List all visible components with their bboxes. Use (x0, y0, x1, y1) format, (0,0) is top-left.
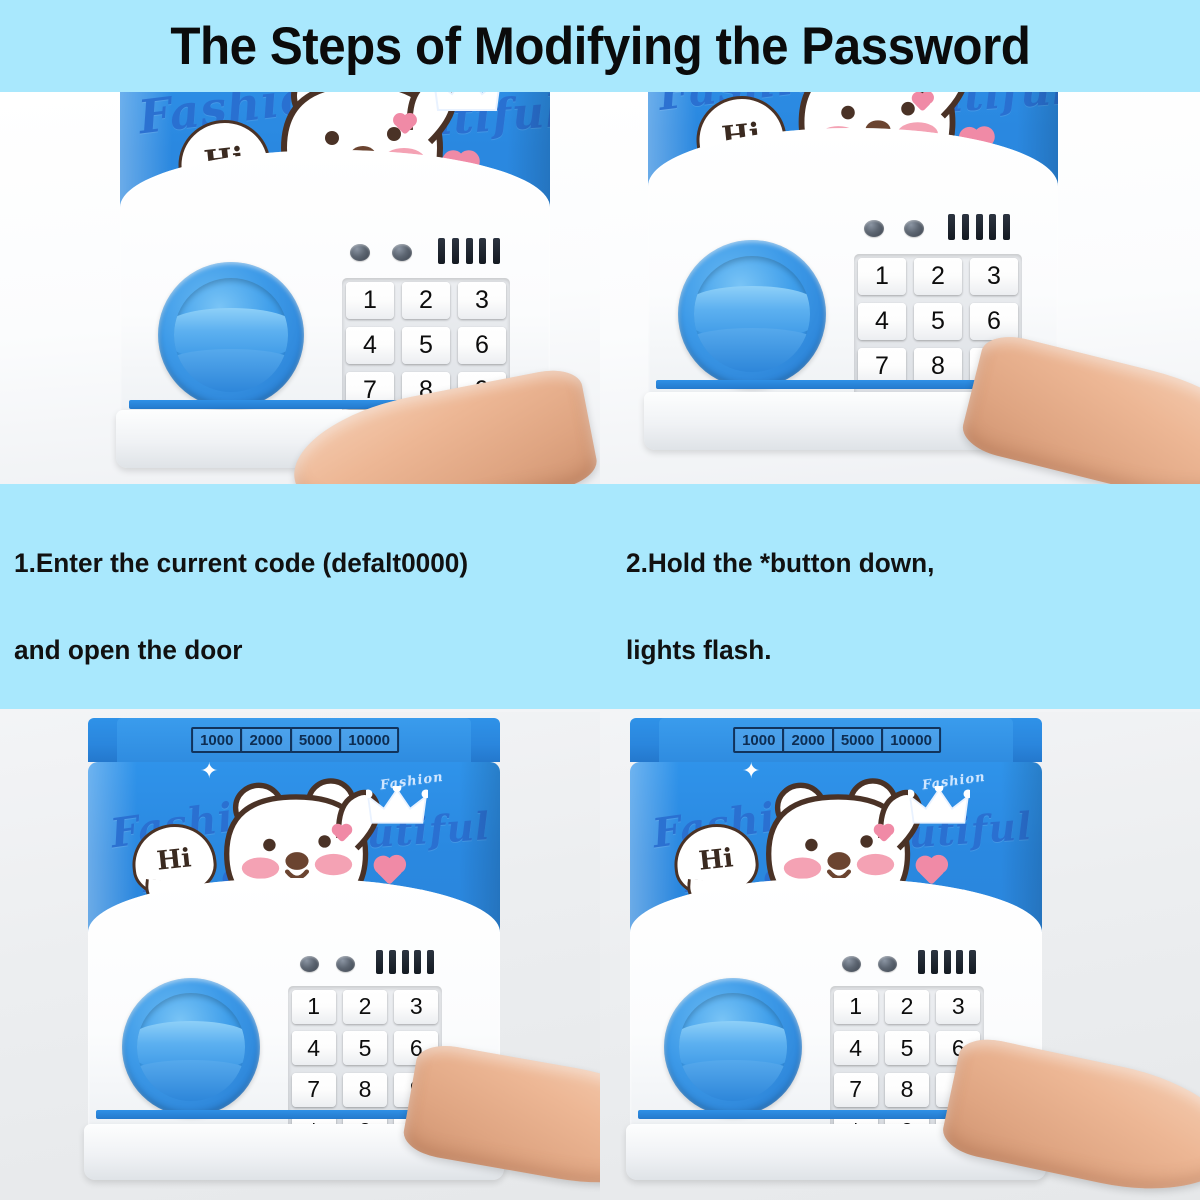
keypad-key-3[interactable]: 3 (936, 990, 980, 1024)
dial-band-lower (174, 349, 288, 392)
keypad-key-7[interactable]: 7 (292, 1073, 336, 1107)
accent-stripe (96, 1110, 492, 1119)
led-indicator-1 (842, 956, 861, 972)
keypad-key-8[interactable]: 8 (885, 1073, 929, 1107)
dial-knob-inner (679, 993, 787, 1101)
keypad-key-4[interactable]: 4 (834, 1031, 878, 1065)
vent-slot (1003, 214, 1010, 240)
device-front-face: 1 2 3 4 5 6 7 8 9 * 0 # (88, 878, 500, 1136)
denomination-2000: 2000 (782, 727, 833, 753)
accent-stripe (129, 400, 542, 409)
keypad-key-1[interactable]: 1 (292, 990, 336, 1024)
denomination-1000: 1000 (191, 727, 242, 753)
accent-stripe (638, 1110, 1034, 1119)
vent-slot (969, 950, 976, 974)
step-2-text: 2.Hold the *button down, lights flash. (626, 498, 1183, 673)
dial-knob[interactable] (678, 240, 826, 388)
keypad-key-7[interactable]: 7 (834, 1073, 878, 1107)
keypad-key-3[interactable]: 3 (394, 990, 438, 1024)
keypad-key-6[interactable]: 6 (970, 303, 1018, 340)
device-front-face: 1 2 3 4 5 6 7 8 9 * 0 # (120, 150, 550, 422)
keypad-key-1[interactable]: 1 (858, 258, 906, 295)
money-bank-device-1: Fashion beautiful The girl Fashion (120, 92, 550, 482)
denomination-5000: 5000 (290, 727, 341, 753)
dial-knob[interactable] (664, 978, 802, 1116)
keypad-key-2[interactable]: 2 (402, 282, 450, 319)
denomination-10000: 10000 (339, 727, 399, 753)
speaker-vent (948, 214, 1010, 240)
keypad-key-6[interactable]: 6 (936, 1031, 980, 1065)
vent-slot (479, 238, 486, 264)
device-front-face: 1 2 3 4 5 6 7 8 9 * 0 # (648, 128, 1058, 404)
device-base (84, 1124, 504, 1180)
keypad-key-9[interactable]: 9 (394, 1073, 438, 1107)
keypad-key-2[interactable]: 2 (885, 990, 929, 1024)
vent-slot (466, 238, 473, 264)
vent-slot (918, 950, 925, 974)
keypad-key-9[interactable]: 9 (936, 1073, 980, 1107)
keypad-key-4[interactable]: 4 (346, 327, 394, 364)
text-column-right: 2.Hold the *button down, lights flash. 4… (600, 484, 1200, 712)
device-base (116, 410, 555, 468)
led-indicator-1 (864, 220, 884, 237)
vent-slot (414, 950, 421, 974)
dial-band-lower (137, 1060, 245, 1101)
vent-slot (944, 950, 951, 974)
sparkle-icon: ✦ (200, 762, 218, 782)
keypad-key-8[interactable]: 8 (343, 1073, 387, 1107)
bottom-photo-row: 1000 2000 5000 10000 Fashion beautiful T… (0, 712, 1200, 1200)
step-1-line-2: and open the door (14, 635, 242, 665)
vent-slot (389, 950, 396, 974)
speaker-vent (438, 238, 500, 264)
vent-slot (976, 214, 983, 240)
text-column-left: 1.Enter the current code (defalt0000) an… (0, 484, 600, 712)
step-2-line-1: 2.Hold the *button down, (626, 548, 934, 578)
crown-icon (366, 786, 428, 828)
vent-slot (376, 950, 383, 974)
money-bank-device-2: Fashion beautiful The girl (648, 92, 1058, 476)
step-1-text: 1.Enter the current code (defalt0000) an… (14, 498, 582, 673)
dial-knob[interactable] (122, 978, 260, 1116)
led-indicator-2 (336, 956, 355, 972)
keypad-key-4[interactable]: 4 (292, 1031, 336, 1065)
led-indicator-1 (300, 956, 319, 972)
instruction-text-band: 1.Enter the current code (defalt0000) an… (0, 484, 1200, 712)
keypad-key-5[interactable]: 5 (343, 1031, 387, 1065)
panel-4-photo: 1000 2000 5000 10000 Fashion beautiful T… (600, 712, 1200, 1200)
title-band: The Steps of Modifying the Password (0, 0, 1200, 92)
vent-slot (962, 214, 969, 240)
keypad-key-6[interactable]: 6 (458, 327, 506, 364)
panel-1-photo: Fashion beautiful The girl Fashion (0, 92, 600, 484)
dial-knob[interactable] (158, 262, 304, 408)
device-lid: 1000 2000 5000 10000 (630, 718, 1042, 762)
page-title: The Steps of Modifying the Password (170, 20, 1030, 73)
sparkle-icon: ✦ (742, 762, 760, 782)
vent-slot (427, 950, 434, 974)
keypad-key-2[interactable]: 2 (343, 990, 387, 1024)
led-indicator-2 (392, 244, 412, 261)
device-front-face: 1 2 3 4 5 6 7 8 9 * 0 # (630, 878, 1042, 1136)
vent-slot (956, 950, 963, 974)
led-indicator-2 (878, 956, 897, 972)
vent-slot (438, 238, 445, 264)
crown-icon (432, 92, 502, 116)
dial-band-lower (679, 1060, 787, 1101)
accent-stripe (656, 380, 1050, 389)
device-base (626, 1124, 1046, 1180)
step-2-line-2: lights flash. (626, 635, 772, 665)
speaker-vent (918, 950, 976, 974)
money-bank-device-4: 1000 2000 5000 10000 Fashion beautiful T… (630, 718, 1042, 1188)
denomination-1000: 1000 (733, 727, 784, 753)
dial-knob-inner (694, 256, 809, 371)
denomination-5000: 5000 (832, 727, 883, 753)
vent-slot (989, 214, 996, 240)
denomination-strip: 1000 2000 5000 10000 (733, 727, 939, 753)
infographic-page: The Steps of Modifying the Password Fash… (0, 0, 1200, 1200)
keypad-key-4[interactable]: 4 (858, 303, 906, 340)
keypad-key-3[interactable]: 3 (970, 258, 1018, 295)
led-indicator-1 (350, 244, 370, 261)
dial-knob-inner (174, 278, 288, 392)
keypad-key-2[interactable]: 2 (914, 258, 962, 295)
dial-knob-inner (137, 993, 245, 1101)
dial-band-lower (694, 328, 809, 372)
step-1-line-1: 1.Enter the current code (defalt0000) (14, 548, 468, 578)
money-bank-device-3: 1000 2000 5000 10000 Fashion beautiful T… (88, 718, 500, 1188)
panel-3-photo: 1000 2000 5000 10000 Fashion beautiful T… (0, 712, 600, 1200)
device-base (644, 392, 1062, 450)
vent-slot (948, 214, 955, 240)
vent-slot (493, 238, 500, 264)
vent-slot (402, 950, 409, 974)
keypad-key-1[interactable]: 1 (834, 990, 878, 1024)
denomination-10000: 10000 (881, 727, 941, 753)
keypad-key-5[interactable]: 5 (402, 327, 450, 364)
keypad-key-5[interactable]: 5 (885, 1031, 929, 1065)
top-photo-row: Fashion beautiful The girl Fashion (0, 92, 1200, 484)
spacer (626, 673, 1200, 681)
crown-icon (908, 786, 970, 828)
vent-slot (452, 238, 459, 264)
keypad-key-1[interactable]: 1 (346, 282, 394, 319)
heart-icon-large (376, 858, 403, 885)
denomination-strip: 1000 2000 5000 10000 (191, 727, 397, 753)
device-lid: 1000 2000 5000 10000 (88, 718, 500, 762)
speaker-vent (376, 950, 434, 974)
led-indicator-2 (904, 220, 924, 237)
panel-2-photo: Fashion beautiful The girl (600, 92, 1200, 484)
keypad-key-6[interactable]: 6 (394, 1031, 438, 1065)
denomination-2000: 2000 (240, 727, 291, 753)
row-divider (0, 709, 1200, 712)
keypad-key-5[interactable]: 5 (914, 303, 962, 340)
heart-icon-large (918, 858, 945, 885)
vent-slot (931, 950, 938, 974)
keypad-key-3[interactable]: 3 (458, 282, 506, 319)
